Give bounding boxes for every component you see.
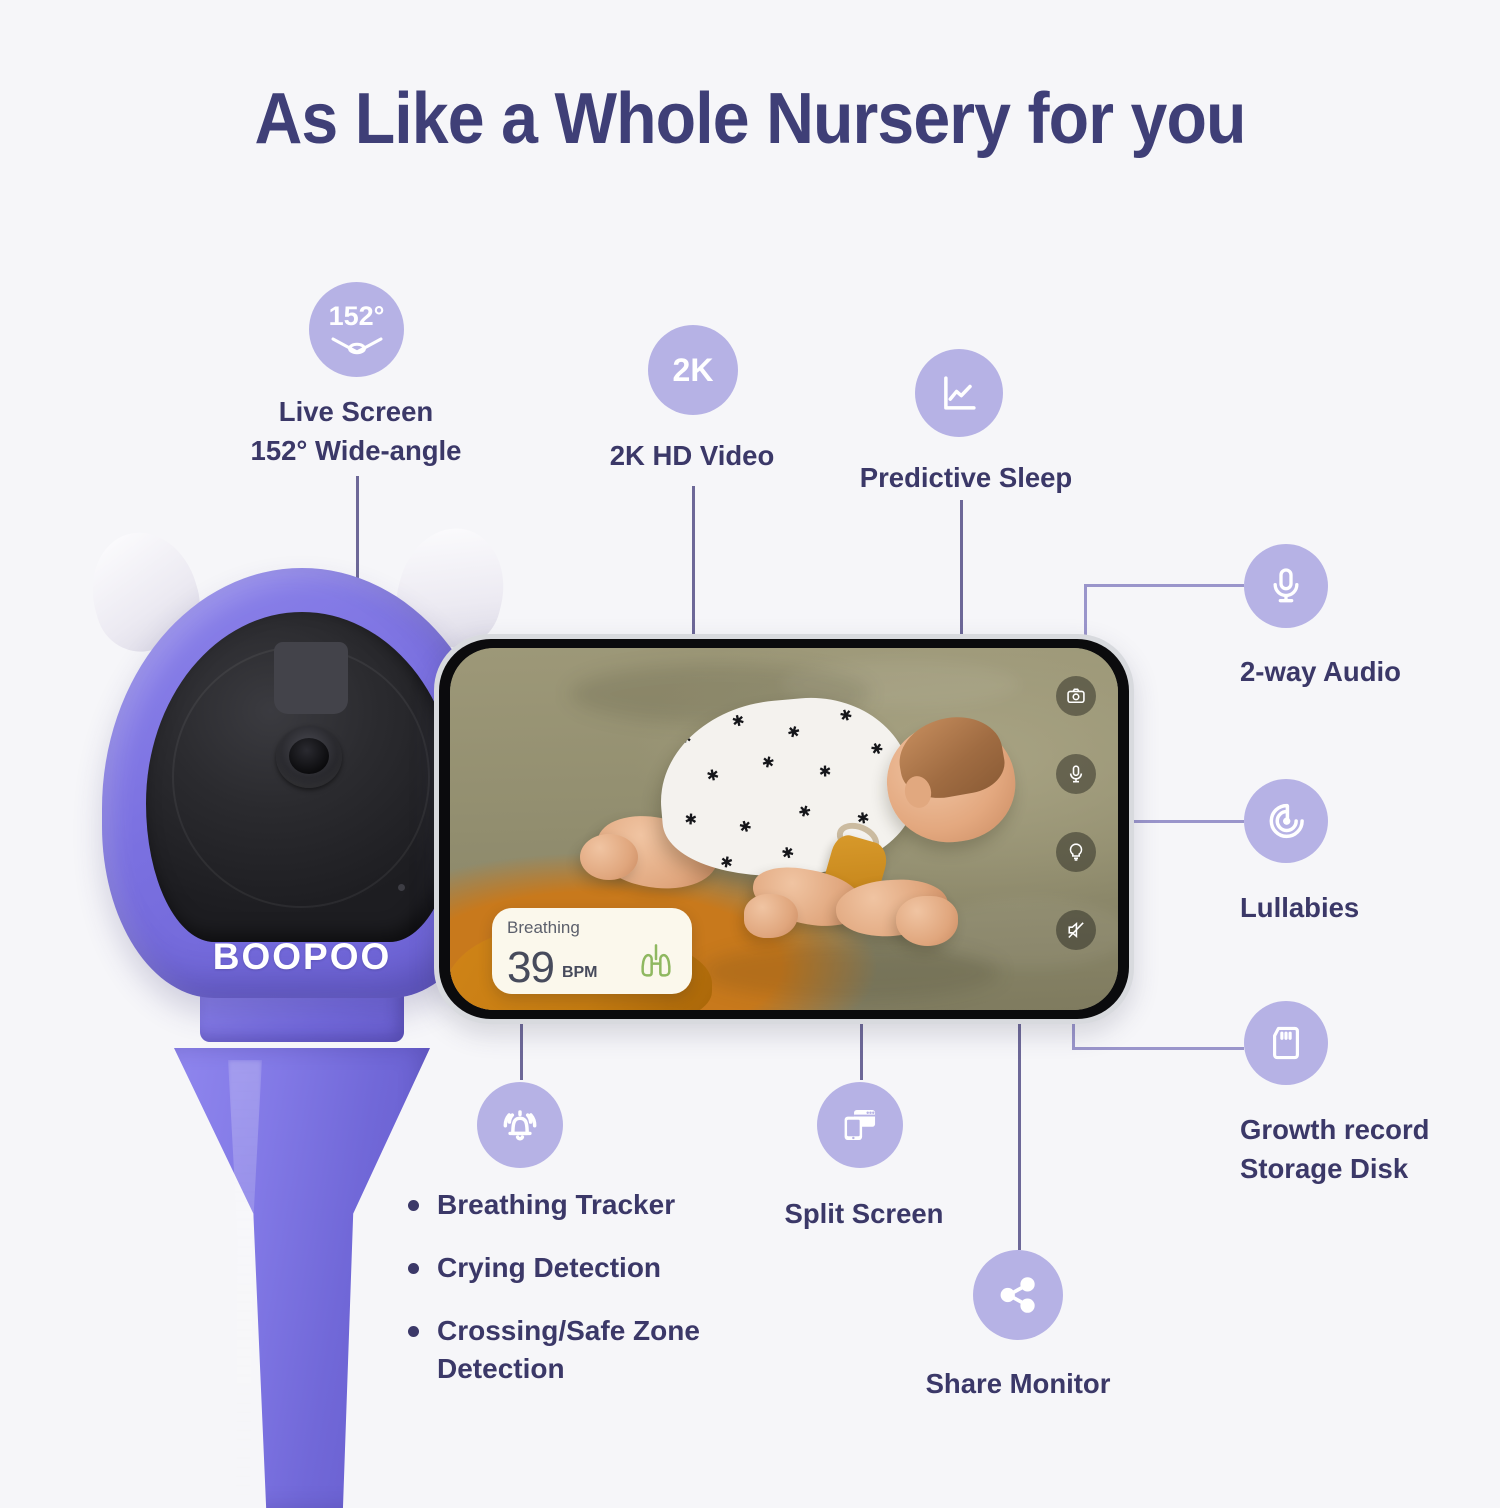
camera-face-plate xyxy=(146,612,458,942)
snapshot-button[interactable] xyxy=(1056,676,1096,716)
phone-mockup: ✱ ✱ ✱ ✱ ✱ ✱ ✱ ✱ ✱ ✱ ✱ ✱ ✱ ✱ ✱ xyxy=(434,634,1134,1024)
page-title: As Like a Whole Nursery for you xyxy=(60,78,1440,160)
label-lullabies: Lullabies xyxy=(1240,888,1359,927)
microphone-icon xyxy=(1066,764,1086,784)
baby-foot xyxy=(580,834,638,880)
badge-lullabies[interactable] xyxy=(1244,779,1328,863)
alert-feature-list: Breathing Tracker Crying Detection Cross… xyxy=(408,1186,828,1413)
talk-button[interactable] xyxy=(1056,754,1096,794)
split-screen-icon xyxy=(838,1104,882,1146)
badge-live-screen-text: 152° xyxy=(329,303,385,330)
bed-shadow xyxy=(700,944,1000,1000)
lightbulb-icon xyxy=(1066,842,1086,862)
infographic-canvas: As Like a Whole Nursery for you BOOPOO xyxy=(0,0,1500,1500)
list-item: Crying Detection xyxy=(408,1249,828,1286)
night-light-button[interactable] xyxy=(1056,832,1096,872)
breathing-rate-value: 39 xyxy=(507,948,554,988)
lungs-icon xyxy=(635,941,677,986)
list-item: Crossing/Safe Zone Detection xyxy=(408,1312,828,1386)
label-live-screen: Live Screen 152° Wide-angle xyxy=(251,392,462,470)
ringing-bell-icon xyxy=(497,1103,543,1147)
speaker-muted-icon xyxy=(1066,920,1086,940)
microphone-icon xyxy=(1266,566,1306,606)
mute-button[interactable] xyxy=(1056,910,1096,950)
camera-lens-icon xyxy=(276,726,342,788)
sd-card-icon xyxy=(1267,1023,1305,1063)
badge-hd-video-text: 2K xyxy=(673,354,714,386)
camera-status-led xyxy=(398,884,405,891)
label-two-way-audio: 2-way Audio xyxy=(1240,652,1401,691)
bullet-label: Crossing/Safe Zone Detection xyxy=(437,1312,828,1386)
label-storage-disk: Growth record Storage Disk xyxy=(1240,1110,1429,1188)
badge-hd-video[interactable]: 2K xyxy=(648,325,738,415)
badge-live-screen[interactable]: 152° xyxy=(309,282,404,377)
badge-alerts[interactable] xyxy=(477,1082,563,1168)
baby-hand xyxy=(896,896,958,946)
label-predictive-sleep: Predictive Sleep xyxy=(860,458,1072,497)
list-item: Breathing Tracker xyxy=(408,1186,828,1223)
bullet-label: Breathing Tracker xyxy=(437,1186,675,1223)
bullet-dot-icon xyxy=(408,1200,419,1211)
bullet-label: Crying Detection xyxy=(437,1249,661,1286)
breathing-card-title: Breathing xyxy=(507,919,677,936)
label-split-screen: Split Screen xyxy=(785,1194,944,1233)
music-spiral-icon xyxy=(1265,800,1307,842)
bullet-dot-icon xyxy=(408,1263,419,1274)
share-nodes-icon xyxy=(996,1273,1040,1317)
phone-frame: ✱ ✱ ✱ ✱ ✱ ✱ ✱ ✱ ✱ ✱ ✱ ✱ ✱ ✱ ✱ xyxy=(439,639,1129,1019)
camera-icon xyxy=(1066,686,1086,706)
breathing-tracker-card: Breathing 39 BPM xyxy=(492,908,692,994)
wide-angle-lens-icon xyxy=(330,334,384,356)
badge-two-way-audio[interactable] xyxy=(1244,544,1328,628)
camera-gooseneck-stem xyxy=(174,1048,430,1508)
badge-predictive-sleep[interactable] xyxy=(915,349,1003,437)
camera-ir-sensor-icon xyxy=(274,642,348,714)
bullet-dot-icon xyxy=(408,1326,419,1337)
badge-share-monitor[interactable] xyxy=(973,1250,1063,1340)
breathing-rate-unit: BPM xyxy=(562,964,598,982)
phone-screen-live-view: ✱ ✱ ✱ ✱ ✱ ✱ ✱ ✱ ✱ ✱ ✱ ✱ ✱ ✱ ✱ xyxy=(450,648,1118,1010)
label-share-monitor: Share Monitor xyxy=(926,1364,1111,1403)
line-chart-icon xyxy=(938,372,980,414)
badge-split-screen[interactable] xyxy=(817,1082,903,1168)
badge-storage-disk[interactable] xyxy=(1244,1001,1328,1085)
label-hd-video: 2K HD Video xyxy=(610,436,775,475)
